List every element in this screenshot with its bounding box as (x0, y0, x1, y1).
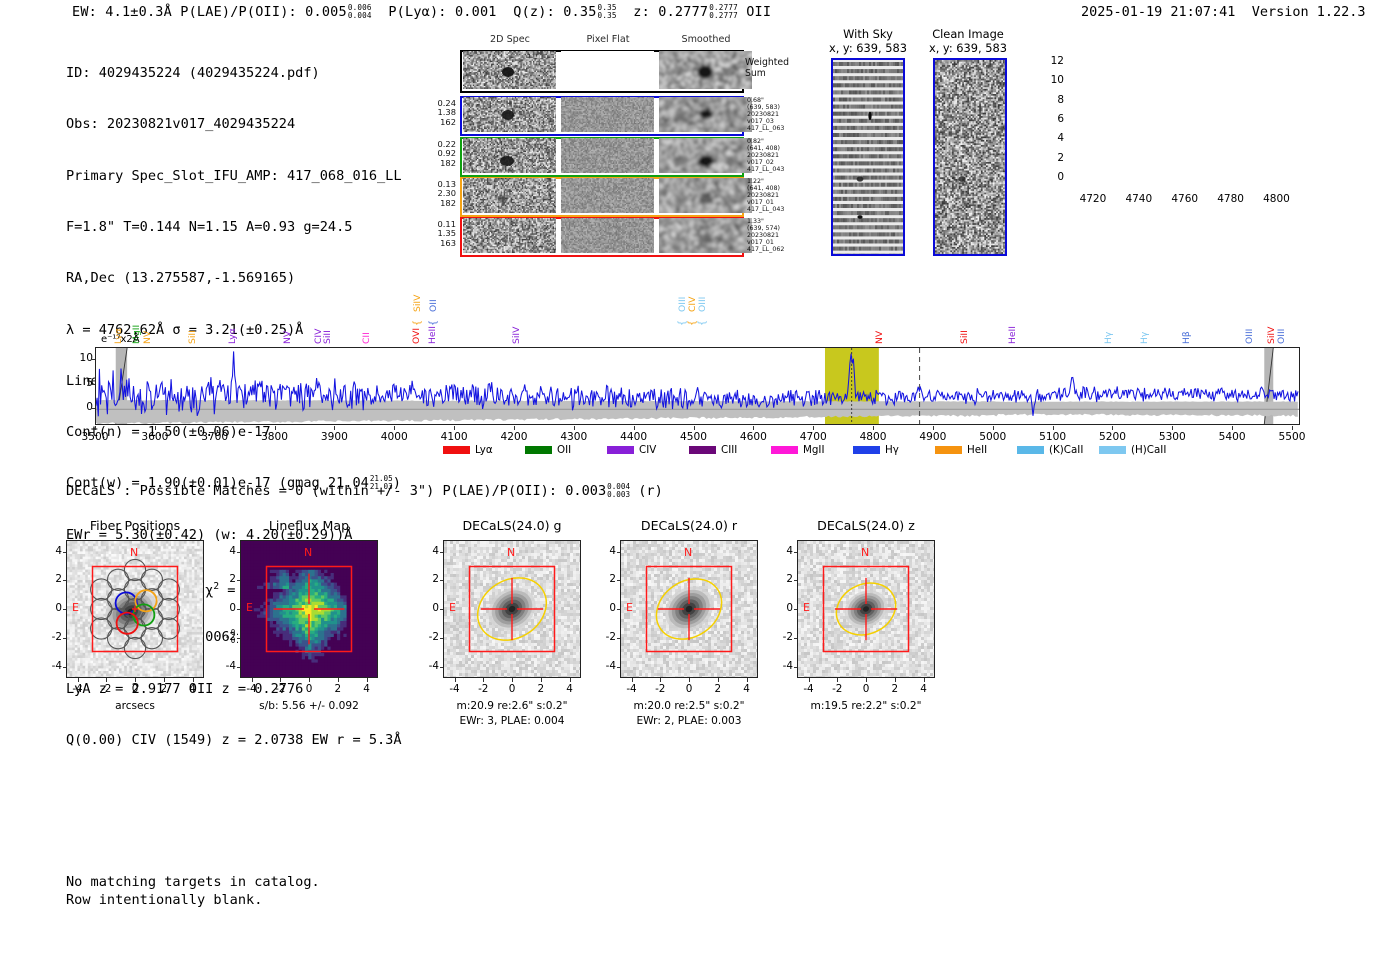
panel-x-tickmark (252, 678, 253, 682)
row-2dspec-image (463, 178, 556, 214)
compass-east: E (246, 601, 253, 614)
compass-east: E (449, 601, 456, 614)
panel-y-tickmark (617, 667, 621, 668)
panel-x-tick: 0 (295, 683, 323, 695)
panel-y-tick: 2 (218, 573, 236, 585)
spectrum-x-tick: 3700 (190, 431, 240, 443)
panel-y-tick: 0 (44, 602, 62, 614)
spectrum-x-tickmark (514, 426, 515, 430)
row-metrics-left: 0.111.35163 (418, 220, 456, 248)
panel-x-tickmark (809, 678, 810, 682)
panel-y-tickmark (63, 609, 67, 610)
legend-label: OII (557, 444, 571, 456)
footer-line-2: Row intentionally blank. (66, 892, 320, 910)
panel-x-tick: 2 (881, 683, 909, 695)
panel-x-tick: -2 (823, 683, 851, 695)
panel-y-tick: -4 (775, 660, 793, 672)
row-smoothed-image (659, 97, 752, 133)
spectrum-x-tickmark (275, 426, 276, 430)
panel-image-frame[interactable] (797, 540, 935, 678)
with-sky-coords: x, y: 639, 583 (829, 41, 907, 55)
with-sky-title: With Sky (843, 27, 893, 41)
spectrum-x-tickmark (574, 426, 575, 430)
panel-y-tickmark (440, 609, 444, 610)
row-meta-item: (639, 583) (747, 104, 807, 111)
panel-y-tick: 4 (598, 545, 616, 557)
panel-x-tickmark (924, 678, 925, 682)
row-2dspec-image (463, 97, 556, 133)
weighted-sum-label: Weighted Sum (745, 58, 805, 79)
row-meta-item: 0.68" (747, 97, 807, 104)
legend-label: (K)CaII (1049, 444, 1083, 456)
panel-x-tick: 4 (910, 683, 938, 695)
panel-x-tickmark (718, 678, 719, 682)
legend-swatch (607, 446, 634, 454)
two-d-spec-row (460, 96, 744, 136)
header-ew-plae: EW: 4.1±0.3Å P(LAE)/P(OII): 0.005 (72, 4, 347, 20)
row-meta-item: 417_LL_043 (747, 166, 807, 173)
row-meta-item: (641, 408) (747, 145, 807, 152)
panel-x-tickmark (135, 678, 136, 682)
line-marker-label: OIII (697, 272, 708, 312)
row-meta-item: 20230821 (747, 232, 807, 239)
line-marker-label: HeII (1007, 304, 1018, 344)
row-metric: 163 (418, 239, 456, 248)
panel-y-tick: -2 (598, 631, 616, 643)
panel-image-frame[interactable] (66, 540, 204, 678)
legend-swatch (771, 446, 798, 454)
row-smoothed-image (659, 218, 752, 254)
panel-y-tick: 2 (775, 573, 793, 585)
panel-x-tickmark (483, 678, 484, 682)
panel-image-frame[interactable] (443, 540, 581, 678)
compass-north: N (507, 546, 515, 559)
row-metrics-left: 0.241.38162 (418, 99, 456, 127)
spectrum-y-tickmark (91, 384, 95, 385)
spectrum-x-tick: 4700 (788, 431, 838, 443)
row-meta-item: v017_01 (747, 199, 807, 206)
legend-entry: Hγ (853, 444, 899, 456)
spectrum-axes (95, 347, 1300, 425)
row-metrics-left: 0.220.92182 (418, 140, 456, 168)
row-meta-item: 1.33" (747, 218, 807, 225)
panel-caption-1: m:20.0 re:2.5" s:0.2" (598, 700, 780, 712)
panel-x-tickmark (338, 678, 339, 682)
panel-y-tick: -4 (421, 660, 439, 672)
plae-lower: 0.004 (348, 12, 372, 20)
two-d-spec-row (460, 177, 744, 217)
with-sky-cutout-frame (831, 58, 905, 256)
z-lower: 0.2777 (709, 12, 738, 20)
panel-x-tickmark (660, 678, 661, 682)
panel-x-tickmark (895, 678, 896, 682)
panel-x-tick: -4 (441, 683, 469, 695)
panel-y-tickmark (63, 552, 67, 553)
image-panel: Lineflux MapNE (240, 540, 378, 678)
panel-y-tickmark (794, 580, 798, 581)
linefit-x-tick: 4760 (1163, 193, 1207, 205)
image-panel: DECaLS(24.0) rNE (620, 540, 758, 678)
row-metadata-right: 1.22"(641, 408)20230821v017_01417_LL_043 (747, 178, 807, 213)
decals-plae-bounds: 0.0040.003 (607, 483, 630, 499)
spectrum-x-tickmark (1053, 426, 1054, 430)
panel-y-tick: 4 (421, 545, 439, 557)
clean-image-title: Clean Image (932, 27, 1004, 41)
row-meta-item: 417_LL_043 (747, 206, 807, 213)
panel-y-tick: 2 (598, 573, 616, 585)
legend-label: Hγ (885, 444, 899, 456)
line-marker-label: OIII (1244, 304, 1255, 344)
weighted-smoothed-image (659, 51, 752, 90)
two-d-spectra-stack: 2D Spec Pixel Flat Smoothed 0.241.381620… (430, 34, 760, 258)
compass-north: N (130, 546, 138, 559)
panel-x-tick: -2 (646, 683, 674, 695)
panel-title: Fiber Positions (66, 518, 204, 533)
decals-headline-post: (r) (638, 483, 663, 499)
row-meta-item: v017_03 (747, 118, 807, 125)
linefit-y-tick: 0 (1034, 171, 1064, 183)
panel-y-tickmark (440, 638, 444, 639)
panel-y-tickmark (237, 609, 241, 610)
cutout-title-clean: Clean Image x, y: 639, 583 (920, 28, 1016, 55)
spectrum-y-tickmark (91, 359, 95, 360)
row-meta-item: 1.22" (747, 178, 807, 185)
panel-x-tickmark (570, 678, 571, 682)
panel-x-tick: -2 (266, 683, 294, 695)
spectrum-x-tick: 4400 (609, 431, 659, 443)
legend-entry: MgII (771, 444, 825, 456)
panel-x-tickmark (309, 678, 310, 682)
panel-caption-2: EWr: 3, PLAE: 0.004 (421, 715, 603, 727)
qz-bounds: 0.350.35 (598, 4, 617, 20)
spectrum-x-tick: 4600 (728, 431, 778, 443)
cutout-panel-row: Fiber PositionsNE-4-4-2-2002244arcsecsLi… (0, 512, 1400, 722)
line-marker-label: CII (361, 304, 372, 344)
panel-title: DECaLS(24.0) r (620, 518, 758, 533)
row-metadata-right: 1.33"(639, 574)20230821v017_01417_LL_062 (747, 218, 807, 253)
spectrum-y-tick: 5 (69, 377, 93, 389)
spectrum-x-tick: 3900 (309, 431, 359, 443)
legend-label: MgII (803, 444, 825, 456)
row-meta-item: 417_LL_062 (747, 246, 807, 253)
spectrum-x-tickmark (1232, 426, 1233, 430)
panel-x-tickmark (837, 678, 838, 682)
panel-x-tick: 2 (527, 683, 555, 695)
row-meta-item: 20230821 (747, 152, 807, 159)
legend-label: Lyα (475, 444, 493, 456)
panel-caption-2: EWr: 2, PLAE: 0.003 (598, 715, 780, 727)
spectrum-x-tickmark (155, 426, 156, 430)
weighted-sum-row (460, 50, 744, 93)
info-seeing: F=1.8" T=0.144 N=1.15 A=0.93 g=24.5 (66, 219, 402, 236)
panel-y-tick: 2 (44, 573, 62, 585)
row-2dspec-image (463, 218, 556, 254)
panel-x-tickmark (747, 678, 748, 682)
spectrum-x-tick: 5500 (1267, 431, 1317, 443)
panel-y-tick: 0 (598, 602, 616, 614)
info-obs: Obs: 20230821v017_4029435224 (66, 116, 402, 133)
row-smoothed-image (659, 138, 752, 174)
panel-x-tick: 0 (498, 683, 526, 695)
panel-x-tickmark (689, 678, 690, 682)
panel-image-frame[interactable] (240, 540, 378, 678)
footer-notes: No matching targets in catalog. Row inte… (66, 874, 320, 909)
spectrum-x-tick: 4800 (848, 431, 898, 443)
panel-y-tickmark (440, 667, 444, 668)
panel-y-tickmark (63, 667, 67, 668)
weighted-sum-line1: Weighted (745, 57, 789, 68)
row-pixelflat-image (561, 138, 654, 174)
header-qz: Q(z): 0.35 (513, 4, 596, 20)
panel-image-frame[interactable] (620, 540, 758, 678)
panel-x-tickmark (455, 678, 456, 682)
line-marker-label: Hβ (1181, 304, 1192, 344)
panel-y-tickmark (617, 552, 621, 553)
panel-x-tick: -2 (469, 683, 497, 695)
spectrum-x-tick: 4000 (369, 431, 419, 443)
panel-caption-1: m:19.5 re:2.2" s:0.2" (775, 700, 957, 712)
row-metric: 182 (418, 159, 456, 168)
image-panel: DECaLS(24.0) zNE (797, 540, 935, 678)
panel-y-tick: -2 (44, 631, 62, 643)
compass-east: E (626, 601, 633, 614)
legend-entry: CIV (607, 444, 656, 456)
panel-y-tick: -2 (775, 631, 793, 643)
panel-x-tick: 0 (675, 683, 703, 695)
panel-x-tick: -4 (64, 683, 92, 695)
row-metric: 182 (418, 199, 456, 208)
z-bounds: 0.27770.2777 (709, 4, 738, 20)
row-meta-item: v017_02 (747, 159, 807, 166)
panel-y-tickmark (440, 580, 444, 581)
panel-y-tick: -4 (218, 660, 236, 672)
panel-y-tick: -4 (44, 660, 62, 672)
panel-y-tickmark (63, 638, 67, 639)
panel-y-tickmark (794, 609, 798, 610)
linefit-x-tick: 4720 (1071, 193, 1115, 205)
panel-x-tickmark (164, 678, 165, 682)
info-id: ID: 4029435224 (4029435224.pdf) (66, 65, 402, 82)
row-2dspec-image (463, 138, 556, 174)
panel-x-tick: 2 (150, 683, 178, 695)
row-pixelflat-image (561, 218, 654, 254)
header-z: z: 0.2777 (633, 4, 708, 20)
clean-image-coords: x, y: 639, 583 (929, 41, 1007, 55)
panel-x-tick: -4 (618, 683, 646, 695)
panel-y-tickmark (440, 552, 444, 553)
panel-y-tickmark (794, 638, 798, 639)
line-marker-label: Hγ (1103, 304, 1114, 344)
clean-image-cutout-frame (933, 58, 1007, 256)
panel-y-tick: 0 (775, 602, 793, 614)
panel-xlabel: arcsecs (66, 700, 204, 712)
spectrum-x-tickmark (694, 426, 695, 430)
row-meta-item: (639, 574) (747, 225, 807, 232)
panel-y-tickmark (237, 580, 241, 581)
panel-x-tickmark (367, 678, 368, 682)
legend-entry: HeII (935, 444, 987, 456)
linefit-x-tick: 4800 (1254, 193, 1298, 205)
spectrum-x-tickmark (813, 426, 814, 430)
legend-swatch (935, 446, 962, 454)
panel-x-tick: -4 (238, 683, 266, 695)
spectrum-x-tickmark (454, 426, 455, 430)
panel-y-tick: 4 (44, 545, 62, 557)
spectrum-x-tickmark (334, 426, 335, 430)
spectrum-x-tick: 5300 (1147, 431, 1197, 443)
emission-line-fit-panel: e⁻¹⁷x2Å 02468101247204740476047804800 (1036, 46, 1316, 256)
legend-swatch (525, 446, 552, 454)
line-marker-label: SiII (959, 304, 970, 344)
image-panel: DECaLS(24.0) gNE (443, 540, 581, 678)
spectrum-y-tick: 0 (69, 401, 93, 413)
line-marker-label: OII (428, 272, 439, 312)
row-metadata-right: 0.68"(639, 583)20230821v017_03417_LL_063 (747, 97, 807, 132)
panel-x-tickmark (512, 678, 513, 682)
spectrum-x-tick: 5400 (1207, 431, 1257, 443)
panel-x-tick: -4 (795, 683, 823, 695)
header-timestamp-version: 2025-01-19 21:07:41 Version 1.22.3 (1081, 4, 1366, 20)
line-marker-brace: { (412, 312, 423, 326)
panel-y-tickmark (617, 638, 621, 639)
panel-y-tickmark (63, 580, 67, 581)
panel-x-tickmark (632, 678, 633, 682)
spectrum-x-tick: 4100 (429, 431, 479, 443)
panel-caption-1: m:20.9 re:2.6" s:0.2" (421, 700, 603, 712)
spectrum-x-tickmark (1172, 426, 1173, 430)
version-label: Version 1.22.3 (1252, 4, 1366, 20)
sky-cutouts: With Sky x, y: 639, 583 Clean Image x, y… (820, 28, 1020, 258)
two-d-spec-row (460, 137, 744, 177)
report-header: EW: 4.1±0.3Å P(LAE)/P(OII): 0.0050.0060.… (0, 0, 1400, 26)
spectrum-x-tickmark (634, 426, 635, 430)
row-meta-item: v017_01 (747, 239, 807, 246)
spectrum-x-tick: 5100 (1028, 431, 1078, 443)
legend-swatch (853, 446, 880, 454)
panel-x-tickmark (193, 678, 194, 682)
spectrum-x-tickmark (993, 426, 994, 430)
row-pixelflat-image (561, 178, 654, 214)
line-marker-label: OIII (1276, 304, 1287, 344)
panel-y-tick: 0 (218, 602, 236, 614)
panel-caption-1: s/b: 5.56 +/- 0.092 (218, 700, 400, 712)
spectrum-x-tickmark (394, 426, 395, 430)
panel-x-tickmark (106, 678, 107, 682)
compass-east: E (803, 601, 810, 614)
footer-line-1: No matching targets in catalog. (66, 874, 320, 892)
qz-lower: 0.35 (598, 12, 617, 20)
panel-x-tick: 2 (704, 683, 732, 695)
legend-swatch (689, 446, 716, 454)
spectrum-x-tickmark (215, 426, 216, 430)
spectrum-x-tick: 5000 (968, 431, 1018, 443)
row-meta-item: 0.82" (747, 138, 807, 145)
legend-label: CIII (721, 444, 737, 456)
line-marker-label: SiII (187, 304, 198, 344)
spectrum-x-tickmark (753, 426, 754, 430)
spectrum-y-tick: 10 (69, 352, 93, 364)
spectrum-x-tick: 3500 (70, 431, 120, 443)
linefit-y-tick: 4 (1034, 132, 1064, 144)
spectrum-x-tick: 3800 (250, 431, 300, 443)
linefit-y-tick: 8 (1034, 94, 1064, 106)
line-marker-label: NV (874, 304, 885, 344)
spectrum-x-tickmark (1292, 426, 1293, 430)
panel-x-tick: 4 (179, 683, 207, 695)
legend-label: (H)CaII (1131, 444, 1166, 456)
spectrum-y-tickmark (91, 408, 95, 409)
legend-label: CIV (639, 444, 656, 456)
panel-x-tick: 4 (353, 683, 381, 695)
full-spectrum-panel: Lyα{MgII{NV{SiII{Lyα{NV{CIV{SiII{CII{OVI… (95, 276, 1310, 466)
plae-bounds: 0.0060.004 (348, 4, 372, 20)
linefit-x-tick: 4780 (1209, 193, 1253, 205)
panel-y-tickmark (794, 667, 798, 668)
panel-x-tick: 4 (733, 683, 761, 695)
legend-swatch (1017, 446, 1044, 454)
header-plya: P(Lyα): 0.001 (388, 4, 496, 20)
line-marker-label: NV (282, 304, 293, 344)
line-marker-brace: { (428, 312, 439, 326)
weighted-sum-line2: Sum (745, 68, 766, 79)
panel-x-tickmark (78, 678, 79, 682)
panel-y-tick: 4 (218, 545, 236, 557)
decals-plae-lower: 0.003 (607, 491, 630, 499)
panel-x-tick: 2 (324, 683, 352, 695)
linefit-y-tick: 10 (1034, 74, 1064, 86)
panel-title: Lineflux Map (240, 518, 378, 533)
panel-title: DECaLS(24.0) z (797, 518, 935, 533)
compass-north: N (304, 546, 312, 559)
row-meta-item: 20230821 (747, 111, 807, 118)
compass-north: N (861, 546, 869, 559)
legend-entry: OII (525, 444, 571, 456)
legend-entry: (K)CaII (1017, 444, 1083, 456)
spectrum-x-tickmark (933, 426, 934, 430)
panel-y-tickmark (617, 609, 621, 610)
two-d-spec-row (460, 217, 744, 257)
compass-east: E (72, 601, 79, 614)
panel-y-tick: -2 (421, 631, 439, 643)
panel-x-tickmark (280, 678, 281, 682)
row-metrics-left: 0.132.30182 (418, 180, 456, 208)
legend-label: HeII (967, 444, 987, 456)
row-metric: 162 (418, 118, 456, 127)
header-z-species: OII (746, 4, 771, 20)
compass-north: N (684, 546, 692, 559)
panel-x-tickmark (866, 678, 867, 682)
panel-x-tick: 4 (556, 683, 584, 695)
legend-swatch (443, 446, 470, 454)
timestamp: 2025-01-19 21:07:41 (1081, 4, 1235, 20)
row-metadata-right: 0.82"(641, 408)20230821v017_02417_LL_043 (747, 138, 807, 173)
image-panel: Fiber PositionsNE (66, 540, 204, 678)
row-meta-item: 20230821 (747, 192, 807, 199)
linefit-x-tick: 4740 (1117, 193, 1161, 205)
panel-y-tickmark (237, 667, 241, 668)
spectrum-x-tick: 4200 (489, 431, 539, 443)
spectrum-x-tick: 4500 (669, 431, 719, 443)
panel-y-tick: -2 (218, 631, 236, 643)
panel-x-tick: 0 (852, 683, 880, 695)
panel-y-tickmark (617, 580, 621, 581)
row-meta-item: 417_LL_063 (747, 125, 807, 132)
legend-entry: (H)CaII (1099, 444, 1166, 456)
weighted-pixelflat-image (561, 51, 654, 90)
linefit-y-tick: 12 (1034, 55, 1064, 67)
decals-headline-pre: DECaLS : Possible Matches = 0 (within +/… (66, 483, 606, 499)
spectrum-x-tick: 3600 (130, 431, 180, 443)
